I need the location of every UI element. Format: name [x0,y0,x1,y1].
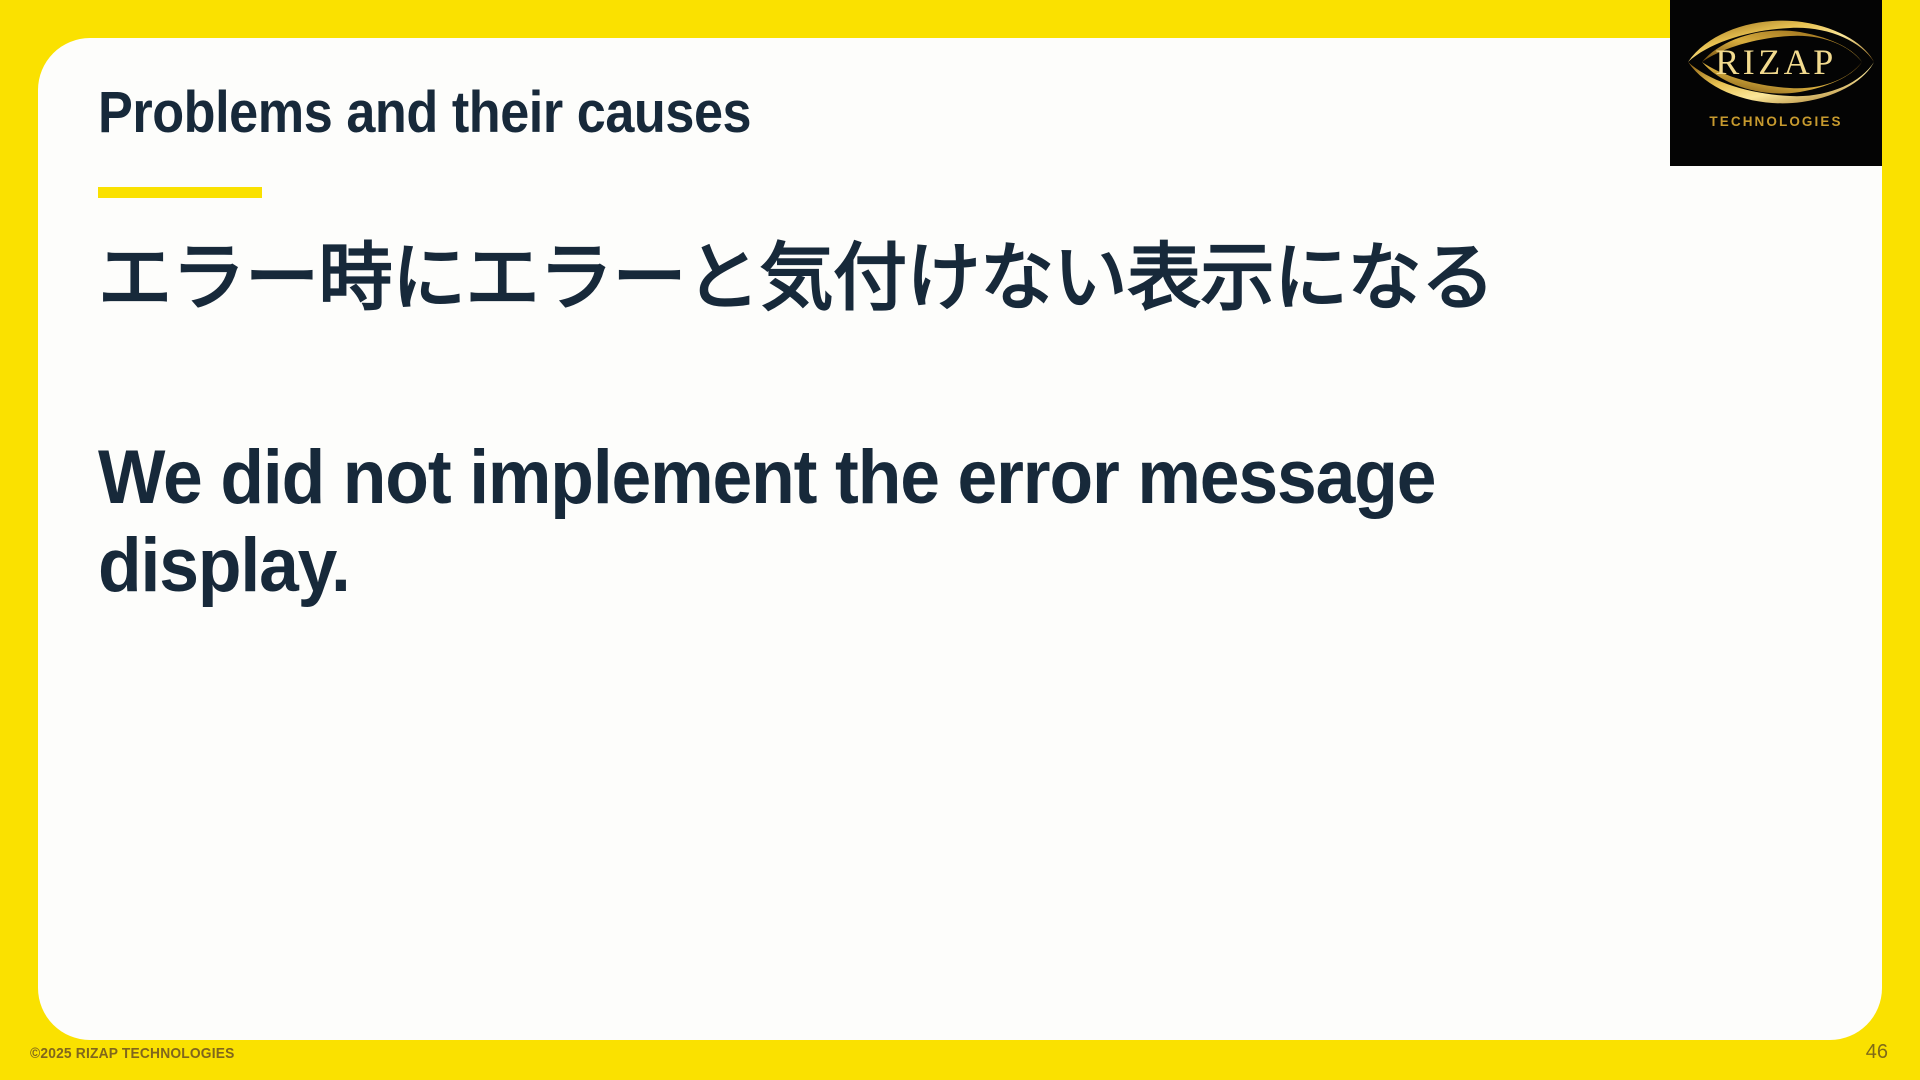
body-text-japanese: エラー時にエラーと気付けない表示になる [98,234,1758,324]
footer-page-number: 46 [1866,1041,1888,1064]
footer-copyright: ©2025 RIZAP TECHNOLOGIES [30,1045,235,1062]
body-text-english: We did not implement the error message d… [98,434,1658,612]
slide-canvas: RIZAP TECHNOLOGIES Problems and their ca… [0,0,1920,1080]
brand-logo-subtitle: TECHNOLOGIES [1670,114,1882,129]
rizap-lens-logo-icon: RIZAP [1670,14,1882,110]
slide-title: Problems and their causes [98,84,751,142]
body-spacer [98,324,1758,434]
slide-body: エラー時にエラーと気付けない表示になる We did not implement… [98,234,1758,611]
brand-logo-plate: RIZAP TECHNOLOGIES [1670,0,1882,166]
svg-text:RIZAP: RIZAP [1715,42,1837,82]
title-accent-rule [98,187,262,198]
